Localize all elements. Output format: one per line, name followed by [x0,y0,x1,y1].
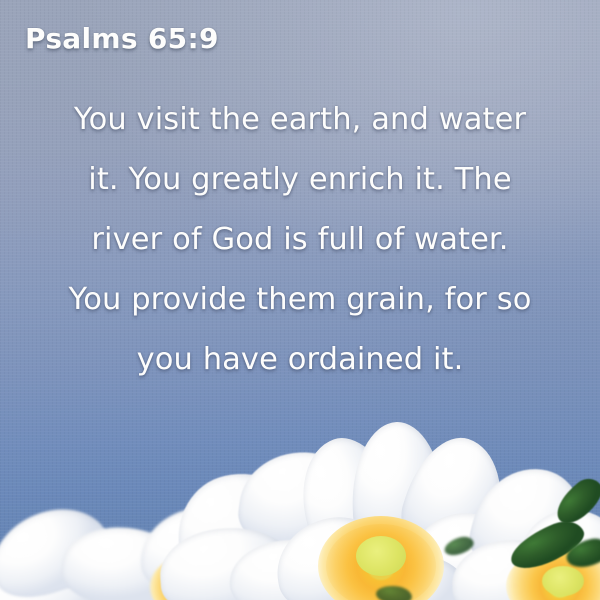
verse-line: You visit the earth, and water [26,90,574,150]
verse-line: river of God is full of water. [26,210,574,270]
verse-text-block: You visit the earth, and water it. You g… [0,90,600,390]
verse-line: you have ordained it. [26,330,574,390]
verse-image-card: Psalms 65:9 You visit the earth, and wat… [0,0,600,600]
verse-reference-title: Psalms 65:9 [25,22,219,55]
verse-line: it. You greatly enrich it. The [26,150,574,210]
verse-line: You provide them grain, for so [26,270,574,330]
